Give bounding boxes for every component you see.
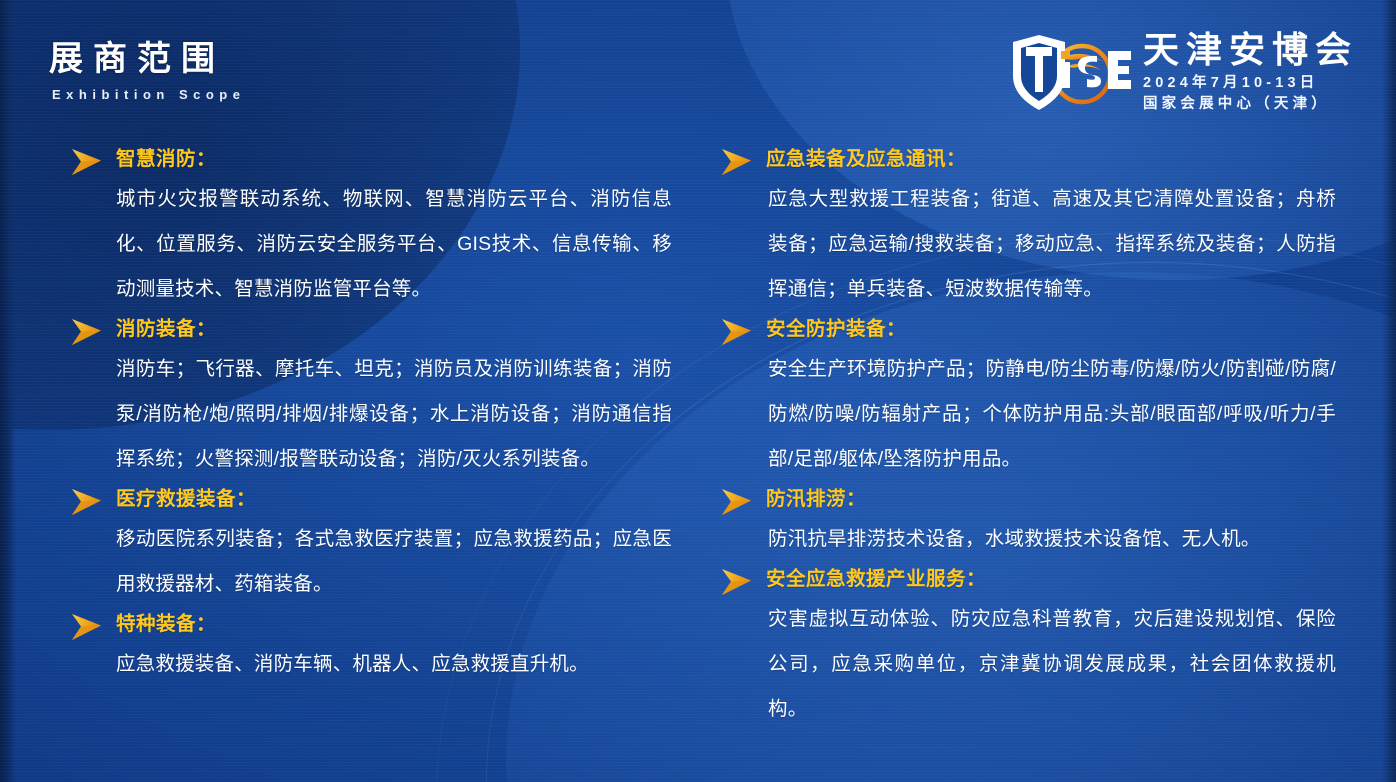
poster-header: 展商范围 Exhibition Scope xyxy=(0,0,1396,140)
scope-entry-header: 消防装备： xyxy=(70,314,674,347)
scope-entry-header: 应急装备及应急通讯： xyxy=(720,144,1338,177)
scope-entry-header: 智慧消防： xyxy=(70,144,674,177)
tise-shield-logo-icon xyxy=(1005,26,1133,118)
page-title: 展商范围 xyxy=(49,42,225,76)
scope-entry-header: 安全应急救援产业服务： xyxy=(720,564,1338,597)
scope-entry-body: 应急大型救援工程装备；街道、高速及其它清障处置设备；舟桥装备；应急运输/搜救装备… xyxy=(720,177,1338,312)
scope-entry-body: 安全生产环境防护产品；防静电/防尘防毒/防爆/防火/防割碰/防腐/防燃/防噪/防… xyxy=(720,347,1338,482)
scope-entry: 应急装备及应急通讯： 应急大型救援工程装备；街道、高速及其它清障处置设备；舟桥装… xyxy=(720,144,1338,312)
scope-column-right: 应急装备及应急通讯： 应急大型救援工程装备；街道、高速及其它清障处置设备；舟桥装… xyxy=(698,140,1396,782)
arrow-bullet-icon xyxy=(720,147,754,177)
arrow-bullet-icon xyxy=(70,147,104,177)
scope-entry-body: 防汛抗旱排涝技术设备，水域救援技术设备馆、无人机。 xyxy=(720,517,1338,562)
scope-entry-title: 应急装备及应急通讯： xyxy=(766,144,966,174)
scope-entry-body: 移动医院系列装备；各式急救医疗装置；应急救援药品；应急医用救援器材、药箱装备。 xyxy=(70,517,674,607)
arrow-bullet-icon xyxy=(720,567,754,597)
event-venue: 国家会展中心（天津） xyxy=(1143,94,1358,115)
scope-entry-body: 应急救援装备、消防车辆、机器人、应急救援直升机。 xyxy=(70,642,674,687)
poster-root: 展商范围 Exhibition Scope xyxy=(0,0,1396,782)
scope-entry: 消防装备： 消防车；飞行器、摩托车、坦克；消防员及消防训练装备；消防泵/消防枪/… xyxy=(70,314,674,482)
scope-entry: 安全应急救援产业服务： 灾害虚拟互动体验、防灾应急科普教育，灾后建设规划馆、保险… xyxy=(720,564,1338,732)
scope-entry-body: 灾害虚拟互动体验、防灾应急科普教育，灾后建设规划馆、保险公司，应急采购单位，京津… xyxy=(720,597,1338,732)
scope-entry-header: 防汛排涝： xyxy=(720,484,1338,517)
scope-entry-title: 智慧消防： xyxy=(116,144,216,174)
scope-entry: 特种装备： 应急救援装备、消防车辆、机器人、应急救援直升机。 xyxy=(70,609,674,687)
scope-entry-title: 医疗救援装备： xyxy=(116,484,256,514)
scope-entry-title: 安全应急救援产业服务： xyxy=(766,564,986,594)
scope-entry-header: 安全防护装备： xyxy=(720,314,1338,347)
scope-entry: 医疗救援装备： 移动医院系列装备；各式急救医疗装置；应急救援药品；应急医用救援器… xyxy=(70,484,674,607)
scope-entry-title: 消防装备： xyxy=(116,314,216,344)
arrow-bullet-icon xyxy=(720,317,754,347)
event-name-cn: 天津安博会 xyxy=(1143,31,1358,70)
scope-column-left: 智慧消防： 城市火灾报警联动系统、物联网、智慧消防云平台、消防信息化、位置服务、… xyxy=(0,140,698,782)
page-subtitle: Exhibition Scope xyxy=(52,88,245,101)
event-logo-text: 天津安博会 2024年7月10-13日 国家会展中心（天津） xyxy=(1143,29,1358,115)
scope-entry-header: 特种装备： xyxy=(70,609,674,642)
scope-entry-body: 城市火灾报警联动系统、物联网、智慧消防云平台、消防信息化、位置服务、消防云安全服… xyxy=(70,177,674,312)
event-date: 2024年7月10-13日 xyxy=(1143,73,1358,94)
event-logo-lockup: 天津安博会 2024年7月10-13日 国家会展中心（天津） xyxy=(1005,26,1358,118)
scope-entry-title: 安全防护装备： xyxy=(766,314,906,344)
arrow-bullet-icon xyxy=(70,317,104,347)
scope-entry-title: 特种装备： xyxy=(116,609,216,639)
scope-entry: 智慧消防： 城市火灾报警联动系统、物联网、智慧消防云平台、消防信息化、位置服务、… xyxy=(70,144,674,312)
scope-entry-body: 消防车；飞行器、摩托车、坦克；消防员及消防训练装备；消防泵/消防枪/炮/照明/排… xyxy=(70,347,674,482)
scope-entry: 安全防护装备： 安全生产环境防护产品；防静电/防尘防毒/防爆/防火/防割碰/防腐… xyxy=(720,314,1338,482)
arrow-bullet-icon xyxy=(720,487,754,517)
scope-content: 智慧消防： 城市火灾报警联动系统、物联网、智慧消防云平台、消防信息化、位置服务、… xyxy=(0,140,1396,782)
scope-entry-title: 防汛排涝： xyxy=(766,484,866,514)
scope-entry: 防汛排涝： 防汛抗旱排涝技术设备，水域救援技术设备馆、无人机。 xyxy=(720,484,1338,562)
arrow-bullet-icon xyxy=(70,487,104,517)
scope-entry-header: 医疗救援装备： xyxy=(70,484,674,517)
arrow-bullet-icon xyxy=(70,612,104,642)
